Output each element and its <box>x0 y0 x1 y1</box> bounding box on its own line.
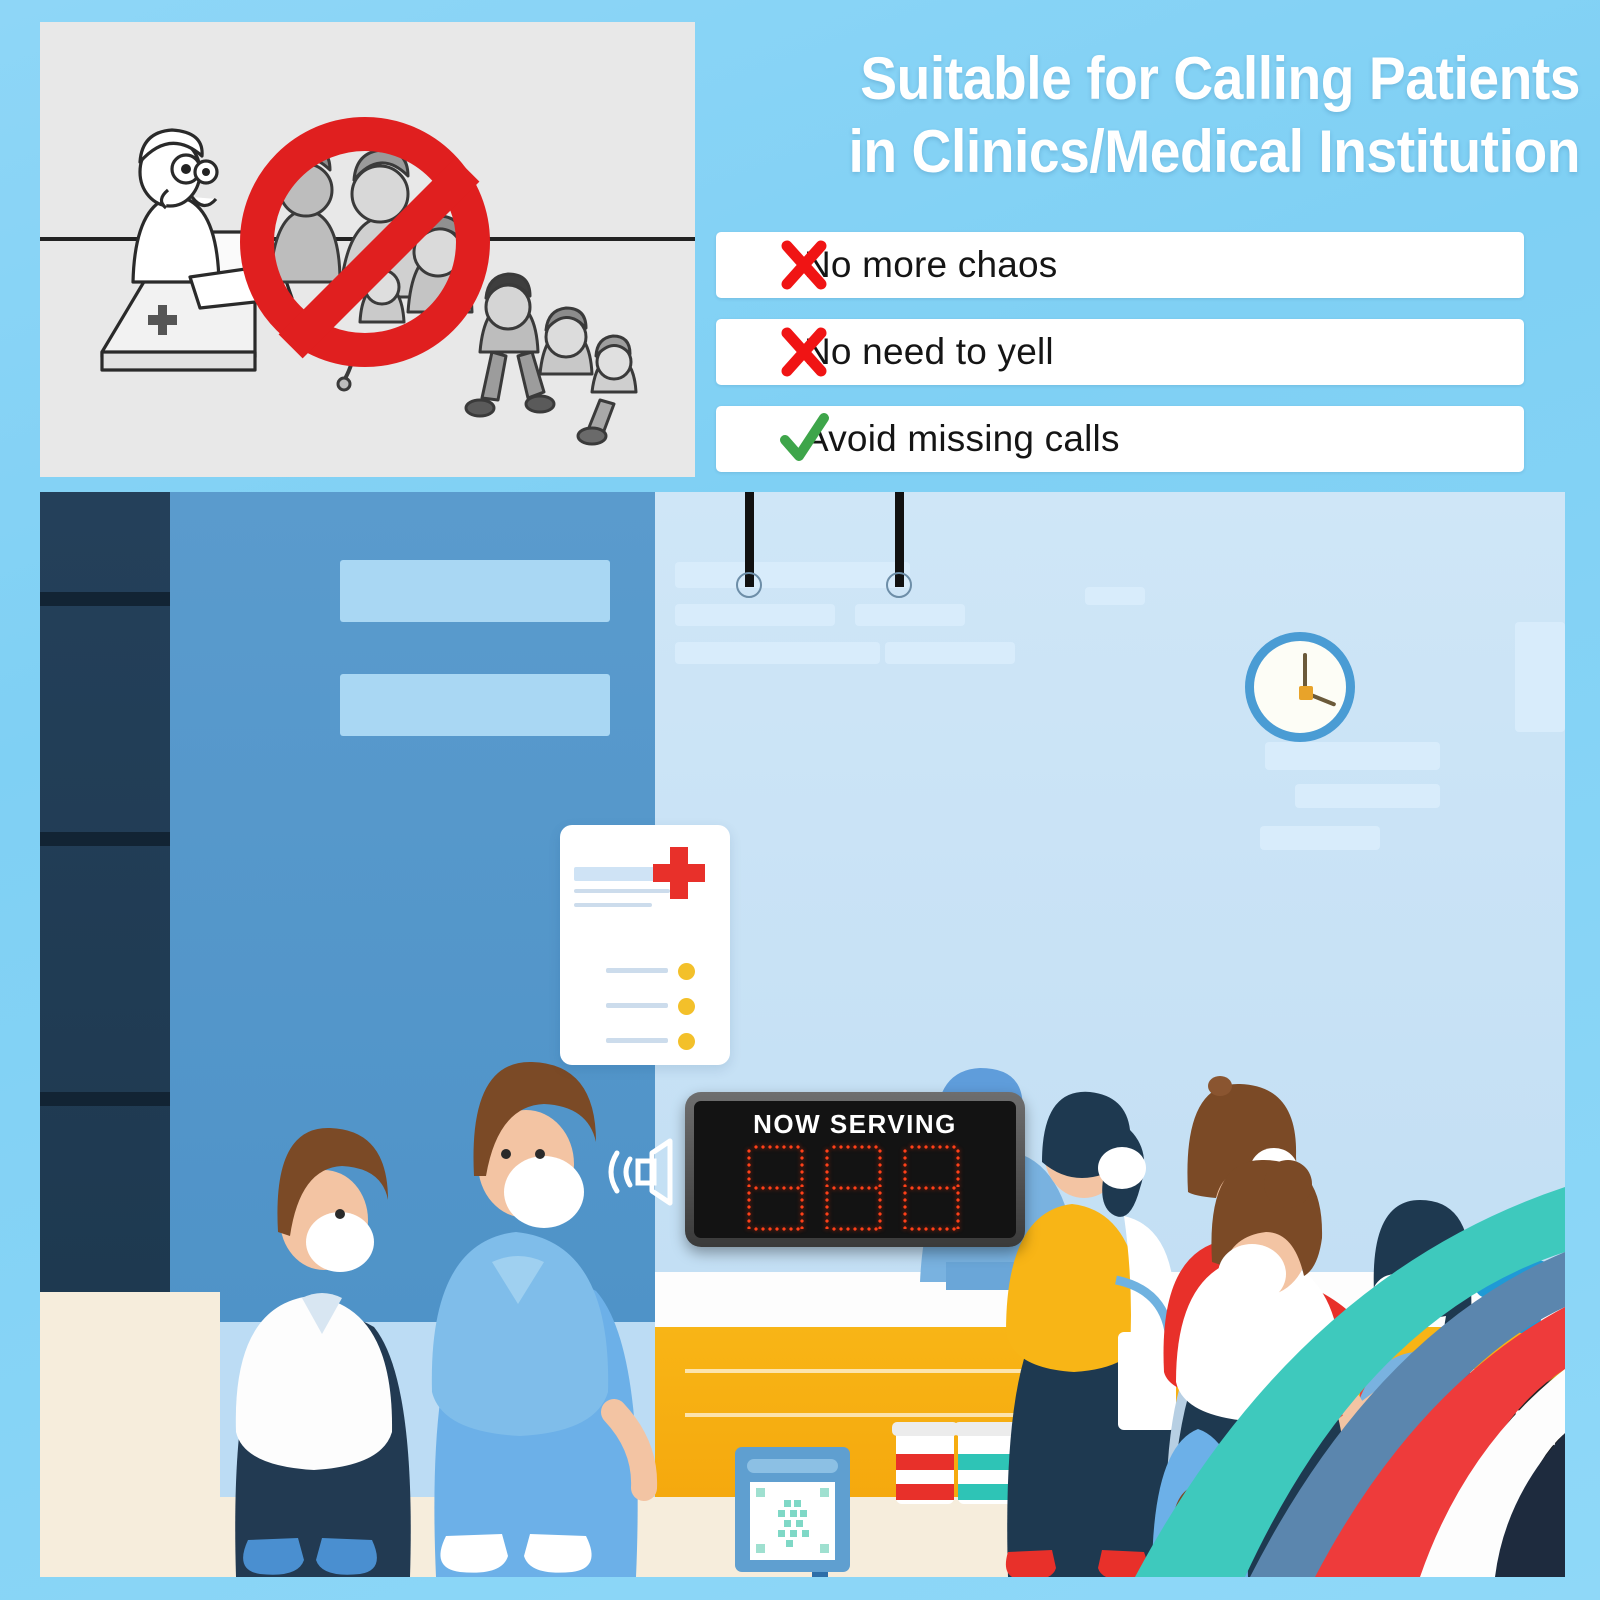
chaos-illustration-panel <box>40 22 695 477</box>
display-title: NOW SERVING <box>694 1109 1016 1140</box>
feature-row-avoid-missing-calls: Avoid missing calls <box>716 406 1524 472</box>
no-entry-icon <box>240 117 490 367</box>
pill-bottles <box>892 1422 1018 1504</box>
feature-label: No need to yell <box>804 331 1054 373</box>
headline-line-1: Suitable for Calling Patients <box>860 45 1580 112</box>
qr-kiosk[interactable] <box>735 1447 850 1572</box>
led-digit-1 <box>746 1145 808 1235</box>
decorative-swoosh <box>1045 1157 1565 1577</box>
headline-line-2: in Clinics/Medical Institution <box>770 115 1580 188</box>
feature-list: No more chaos No need to yell Avoid miss… <box>716 232 1524 493</box>
led-screen: NOW SERVING <box>694 1101 1016 1238</box>
clinic-scene: NOW SERVING <box>40 492 1565 1577</box>
kiosk-slot <box>747 1459 838 1473</box>
page-title: Suitable for Calling Patients in Clinics… <box>770 42 1580 188</box>
figure-man-white-polo <box>235 1128 411 1577</box>
medical-record-card <box>560 825 730 1065</box>
mount-ring-right <box>886 572 912 598</box>
led-digits <box>694 1145 1016 1235</box>
feature-row-no-need-to-yell: No need to yell <box>716 319 1524 385</box>
feature-label: No more chaos <box>804 244 1058 286</box>
led-digit-2 <box>824 1145 886 1235</box>
check-icon <box>777 412 831 466</box>
feature-label: Avoid missing calls <box>804 418 1120 460</box>
qr-code-icon <box>750 1482 835 1560</box>
potted-plant <box>100 1552 350 1577</box>
mount-ring-left <box>736 572 762 598</box>
cross-icon <box>777 238 831 292</box>
cross-icon <box>777 325 831 379</box>
led-digit-3 <box>902 1145 964 1235</box>
feature-row-no-more-chaos: No more chaos <box>716 232 1524 298</box>
product-poster: Suitable for Calling Patients in Clinics… <box>0 0 1600 1600</box>
now-serving-display[interactable]: NOW SERVING <box>685 1092 1025 1247</box>
